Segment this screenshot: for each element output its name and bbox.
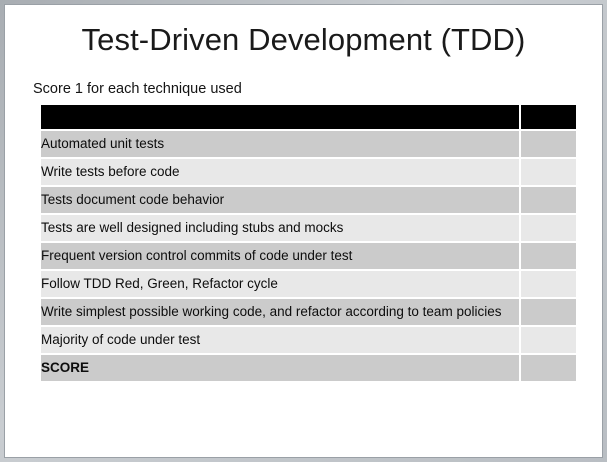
table-header-score: [521, 105, 576, 131]
score-value: [521, 193, 576, 208]
slide-subtitle: Score 1 for each technique used: [33, 81, 242, 98]
technique-label: Tests are well designed including stubs …: [41, 215, 521, 243]
technique-label: Tests document code behavior: [41, 187, 521, 215]
score-value: [521, 305, 576, 320]
score-value: [521, 221, 576, 236]
technique-label: Automated unit tests: [41, 131, 521, 159]
table-row: SCORE: [41, 355, 576, 381]
slide-frame: Test-Driven Development (TDD) Score 1 fo…: [0, 0, 607, 462]
score-value: [521, 277, 576, 292]
technique-label: Majority of code under test: [41, 327, 521, 355]
score-total-label: SCORE: [41, 355, 521, 381]
table-row: Majority of code under test: [41, 327, 576, 355]
table-body: Automated unit tests Write tests before …: [41, 105, 576, 381]
score-total-value[interactable]: [521, 355, 576, 381]
score-value-cell[interactable]: [521, 299, 576, 327]
table-row: Follow TDD Red, Green, Refactor cycle: [41, 271, 576, 299]
table-row: Tests document code behavior: [41, 187, 576, 215]
score-value: [521, 165, 576, 180]
score-value-cell[interactable]: [521, 271, 576, 299]
score-value-cell[interactable]: [521, 187, 576, 215]
score-value-cell[interactable]: [521, 327, 576, 355]
slide-canvas: Test-Driven Development (TDD) Score 1 fo…: [5, 5, 602, 457]
table-row: Write simplest possible working code, an…: [41, 299, 576, 327]
score-value-cell[interactable]: [521, 159, 576, 187]
score-value-cell[interactable]: [521, 131, 576, 159]
tdd-score-table: Automated unit tests Write tests before …: [41, 105, 576, 381]
score-value: [521, 137, 576, 152]
technique-label: Write tests before code: [41, 159, 521, 187]
page-title: Test-Driven Development (TDD): [5, 23, 602, 57]
score-value-cell[interactable]: [521, 215, 576, 243]
technique-label: Write simplest possible working code, an…: [41, 299, 521, 327]
table-row: Write tests before code: [41, 159, 576, 187]
technique-label: Follow TDD Red, Green, Refactor cycle: [41, 271, 521, 299]
score-value: [521, 249, 576, 264]
table-row: Tests are well designed including stubs …: [41, 215, 576, 243]
score-value: [521, 361, 576, 376]
table-header-technique: [41, 105, 521, 131]
score-value: [521, 333, 576, 348]
table-row: Frequent version control commits of code…: [41, 243, 576, 271]
table-header-row: [41, 105, 576, 131]
score-value-cell[interactable]: [521, 243, 576, 271]
technique-label: Frequent version control commits of code…: [41, 243, 521, 271]
table-row: Automated unit tests: [41, 131, 576, 159]
